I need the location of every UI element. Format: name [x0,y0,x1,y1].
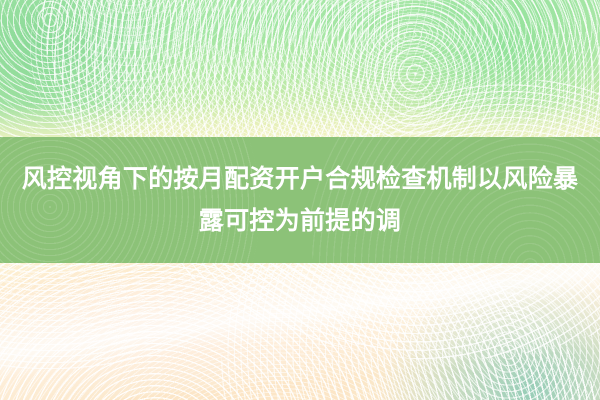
page-title-line-1: 风控视角下的按月配资开户合规检查机制以风险暴 [22,165,579,193]
title-banner: 风控视角下的按月配资开户合规检查机制以风险暴 露可控为前提的调 [0,137,600,263]
page-title-line-2: 露可控为前提的调 [20,200,580,242]
page-title: 风控视角下的按月配资开户合规检查机制以风险暴 露可控为前提的调 [20,158,580,242]
title-card: 风控视角下的按月配资开户合规检查机制以风险暴 露可控为前提的调 [0,0,600,400]
